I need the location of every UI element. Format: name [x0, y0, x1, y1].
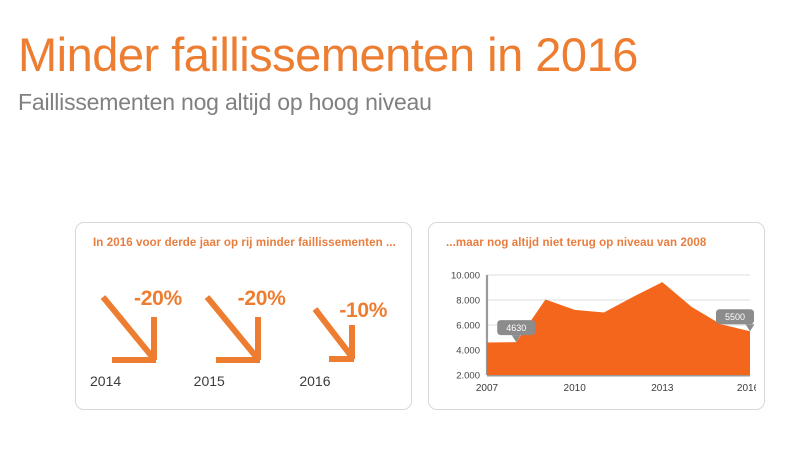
decline-year-2015: 2015 — [194, 373, 225, 389]
y-axis-tick-label: 10.000 — [451, 270, 480, 281]
decline-item-2016: -10% 2016 — [295, 285, 399, 397]
y-axis-tick-label: 2.000 — [456, 370, 480, 381]
x-axis-tick-label: 2016* — [737, 383, 756, 394]
y-axis-tick-label: 8.000 — [456, 295, 480, 306]
card-decline-arrows: In 2016 voor derde jaar op rij minder fa… — [75, 222, 412, 410]
card-bankruptcy-chart: ...maar nog altijd niet terug op niveau … — [428, 222, 765, 410]
x-axis-tick-label: 2007 — [476, 383, 499, 394]
x-axis-tick-label: 2013 — [651, 383, 674, 394]
y-axis-tick-label: 6.000 — [456, 320, 480, 331]
y-axis-tick-label: 4.000 — [456, 345, 480, 356]
annotation-pointer — [746, 324, 755, 331]
decline-item-2015: -20% 2015 — [192, 285, 296, 397]
decline-percent-2015: -20% — [238, 287, 286, 311]
decline-year-2016: 2016 — [299, 373, 330, 389]
decline-percent-2016: -10% — [339, 299, 387, 323]
card-heading-chart: ...maar nog altijd niet terug op niveau … — [446, 237, 752, 249]
annotation-label: 4630 — [506, 323, 526, 333]
page-title: Minder faillissementen in 2016 — [18, 28, 782, 82]
decline-year-2014: 2014 — [90, 373, 121, 389]
decline-percent-2014: -20% — [134, 287, 182, 311]
x-axis-tick-label: 2010 — [564, 383, 587, 394]
page-subtitle: Faillissementen nog altijd op hoog nivea… — [18, 88, 782, 116]
annotation-label: 5500 — [725, 312, 745, 322]
page-header: Minder faillissementen in 2016 Faillisse… — [18, 28, 782, 116]
area-chart: 2.0004.0006.0008.00010.00020072010201320… — [439, 267, 756, 401]
card-heading-arrows: In 2016 voor derde jaar op rij minder fa… — [93, 237, 399, 249]
arrow-group: -20% 2014 -20% 2015 -10% — [88, 285, 399, 397]
decline-item-2014: -20% 2014 — [88, 285, 192, 397]
